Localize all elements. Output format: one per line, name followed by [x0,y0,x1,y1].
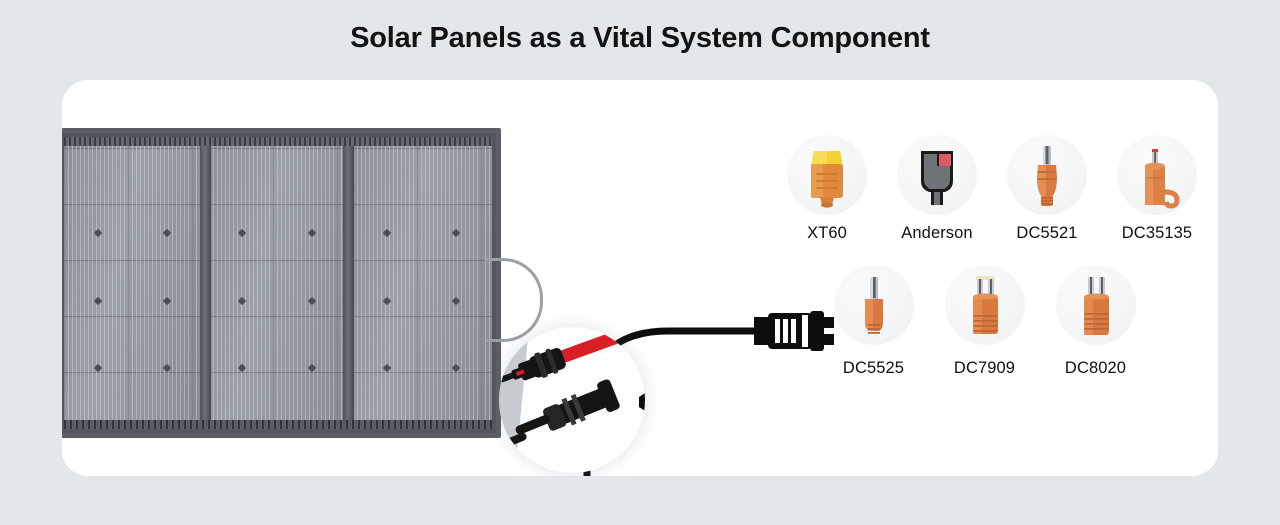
connector-label: DC5525 [818,359,929,378]
anderson-icon [897,135,977,215]
connector-row-1: XT60 Anderson [772,135,1212,243]
connector-item-dc5525[interactable]: DC5525 [818,265,929,378]
panel-fold-divider [200,137,211,429]
connector-label: DC5521 [992,224,1102,243]
dc5525-icon [834,265,914,345]
connector-item-anderson[interactable]: Anderson [882,135,992,243]
dc35135-icon [1117,135,1197,215]
dc5521-icon [1007,135,1087,215]
connector-item-xt60[interactable]: XT60 [772,135,882,243]
solar-panel-cells [64,137,492,429]
connector-label: DC7909 [929,359,1040,378]
connector-label: Anderson [882,224,992,243]
solar-panel-body [62,128,501,438]
content-card: XT60 Anderson [62,80,1218,476]
panel-fold-divider [343,137,354,429]
panel-bottom-edge [64,420,492,429]
connector-label: XT60 [772,224,882,243]
solar-panel-illustration [62,128,512,440]
connector-item-dc8020[interactable]: DC8020 [1040,265,1151,378]
connector-item-dc7909[interactable]: DC7909 [929,265,1040,378]
panel-top-edge [64,137,492,146]
connector-row-2: DC5525 [818,265,1212,378]
panel-segment [353,137,492,429]
dc7909-icon [945,265,1025,345]
connector-type-grid: XT60 Anderson [772,135,1212,378]
xt60-icon [787,135,867,215]
mc4-connector-magnifier [499,327,645,473]
panel-segment [209,137,348,429]
connector-item-dc5521[interactable]: DC5521 [992,135,1102,243]
dc8020-icon [1056,265,1136,345]
connector-label: DC8020 [1040,359,1151,378]
page-title: Solar Panels as a Vital System Component [0,22,1280,55]
connector-item-dc35135[interactable]: DC35135 [1102,135,1212,243]
connector-label: DC35135 [1102,224,1212,243]
panel-segment [64,137,203,429]
